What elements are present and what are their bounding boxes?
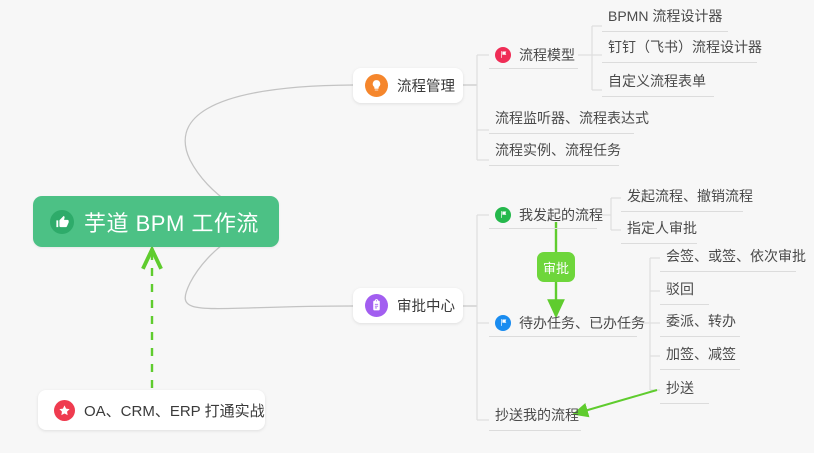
leaf-custom-form[interactable]: 自定义流程表单	[602, 69, 714, 97]
leaf-listener-expression[interactable]: 流程监听器、流程表达式	[489, 106, 634, 134]
leaf-label: 抄送	[666, 378, 694, 398]
root-label: 芋道 BPM 工作流	[84, 206, 259, 238]
leaf-start-cancel[interactable]: 发起流程、撤销流程	[621, 184, 743, 212]
leaf-label: 流程实例、流程任务	[495, 140, 621, 160]
flag-icon	[495, 47, 511, 63]
leaf-my-started-process[interactable]: 我发起的流程	[489, 201, 597, 229]
leaf-todo-done-task[interactable]: 待办任务、已办任务	[489, 309, 637, 337]
leaf-instance-task[interactable]: 流程实例、流程任务	[489, 138, 619, 166]
leaf-cc-to-me[interactable]: 抄送我的流程	[489, 403, 581, 431]
leaf-label: 驳回	[666, 279, 694, 299]
leaf-label: 会签、或签、依次审批	[666, 246, 806, 266]
leaf-carbon-copy[interactable]: 抄送	[660, 376, 709, 404]
leaf-assignee-approve[interactable]: 指定人审批	[621, 216, 697, 244]
leaf-label: BPMN 流程设计器	[608, 6, 722, 26]
leaf-add-remove-sign[interactable]: 加签、减签	[660, 342, 740, 370]
integration-label: OA、CRM、ERP 打通实战	[84, 400, 265, 421]
approval-tag[interactable]: 审批	[537, 252, 575, 282]
leaf-label: 加签、减签	[666, 344, 736, 364]
leaf-label: 我发起的流程	[519, 205, 603, 225]
leaf-label: 自定义流程表单	[608, 71, 706, 91]
leaf-dingtalk-designer[interactable]: 钉钉（飞书）流程设计器	[602, 35, 757, 63]
mindmap-canvas: 芋道 BPM 工作流 流程管理 审批中心 OA、CRM、ERP 打通实战	[0, 0, 814, 453]
thumbs-up-icon	[50, 210, 74, 234]
leaf-label: 抄送我的流程	[495, 405, 579, 425]
leaf-label: 委派、转办	[666, 311, 736, 331]
flag-icon	[495, 207, 511, 223]
flag-icon	[495, 315, 511, 331]
leaf-label: 流程监听器、流程表达式	[495, 108, 649, 128]
leaf-reject[interactable]: 驳回	[660, 277, 709, 305]
branch-node-approval-center[interactable]: 审批中心	[353, 288, 463, 323]
leaf-delegate-transfer[interactable]: 委派、转办	[660, 309, 740, 337]
leaf-countersign[interactable]: 会签、或签、依次审批	[660, 244, 796, 272]
branch-label-approval-center: 审批中心	[397, 295, 455, 316]
leaf-label: 流程模型	[519, 45, 575, 65]
arrow-carbon-copy	[574, 390, 657, 414]
leaf-label: 指定人审批	[627, 218, 697, 238]
star-icon	[54, 400, 75, 421]
leaf-label: 待办任务、已办任务	[519, 313, 645, 333]
approval-tag-label: 审批	[543, 258, 569, 277]
leaf-label: 发起流程、撤销流程	[627, 186, 753, 206]
root-node[interactable]: 芋道 BPM 工作流	[33, 196, 279, 247]
branch-node-process-management[interactable]: 流程管理	[353, 68, 463, 103]
branch-label-process-management: 流程管理	[397, 75, 455, 96]
leaf-bpmn-designer[interactable]: BPMN 流程设计器	[602, 4, 728, 32]
integration-node[interactable]: OA、CRM、ERP 打通实战	[38, 390, 265, 430]
leaf-process-model[interactable]: 流程模型	[489, 41, 578, 69]
clipboard-icon	[365, 294, 388, 317]
leaf-label: 钉钉（飞书）流程设计器	[608, 37, 762, 57]
lightbulb-icon	[365, 74, 388, 97]
